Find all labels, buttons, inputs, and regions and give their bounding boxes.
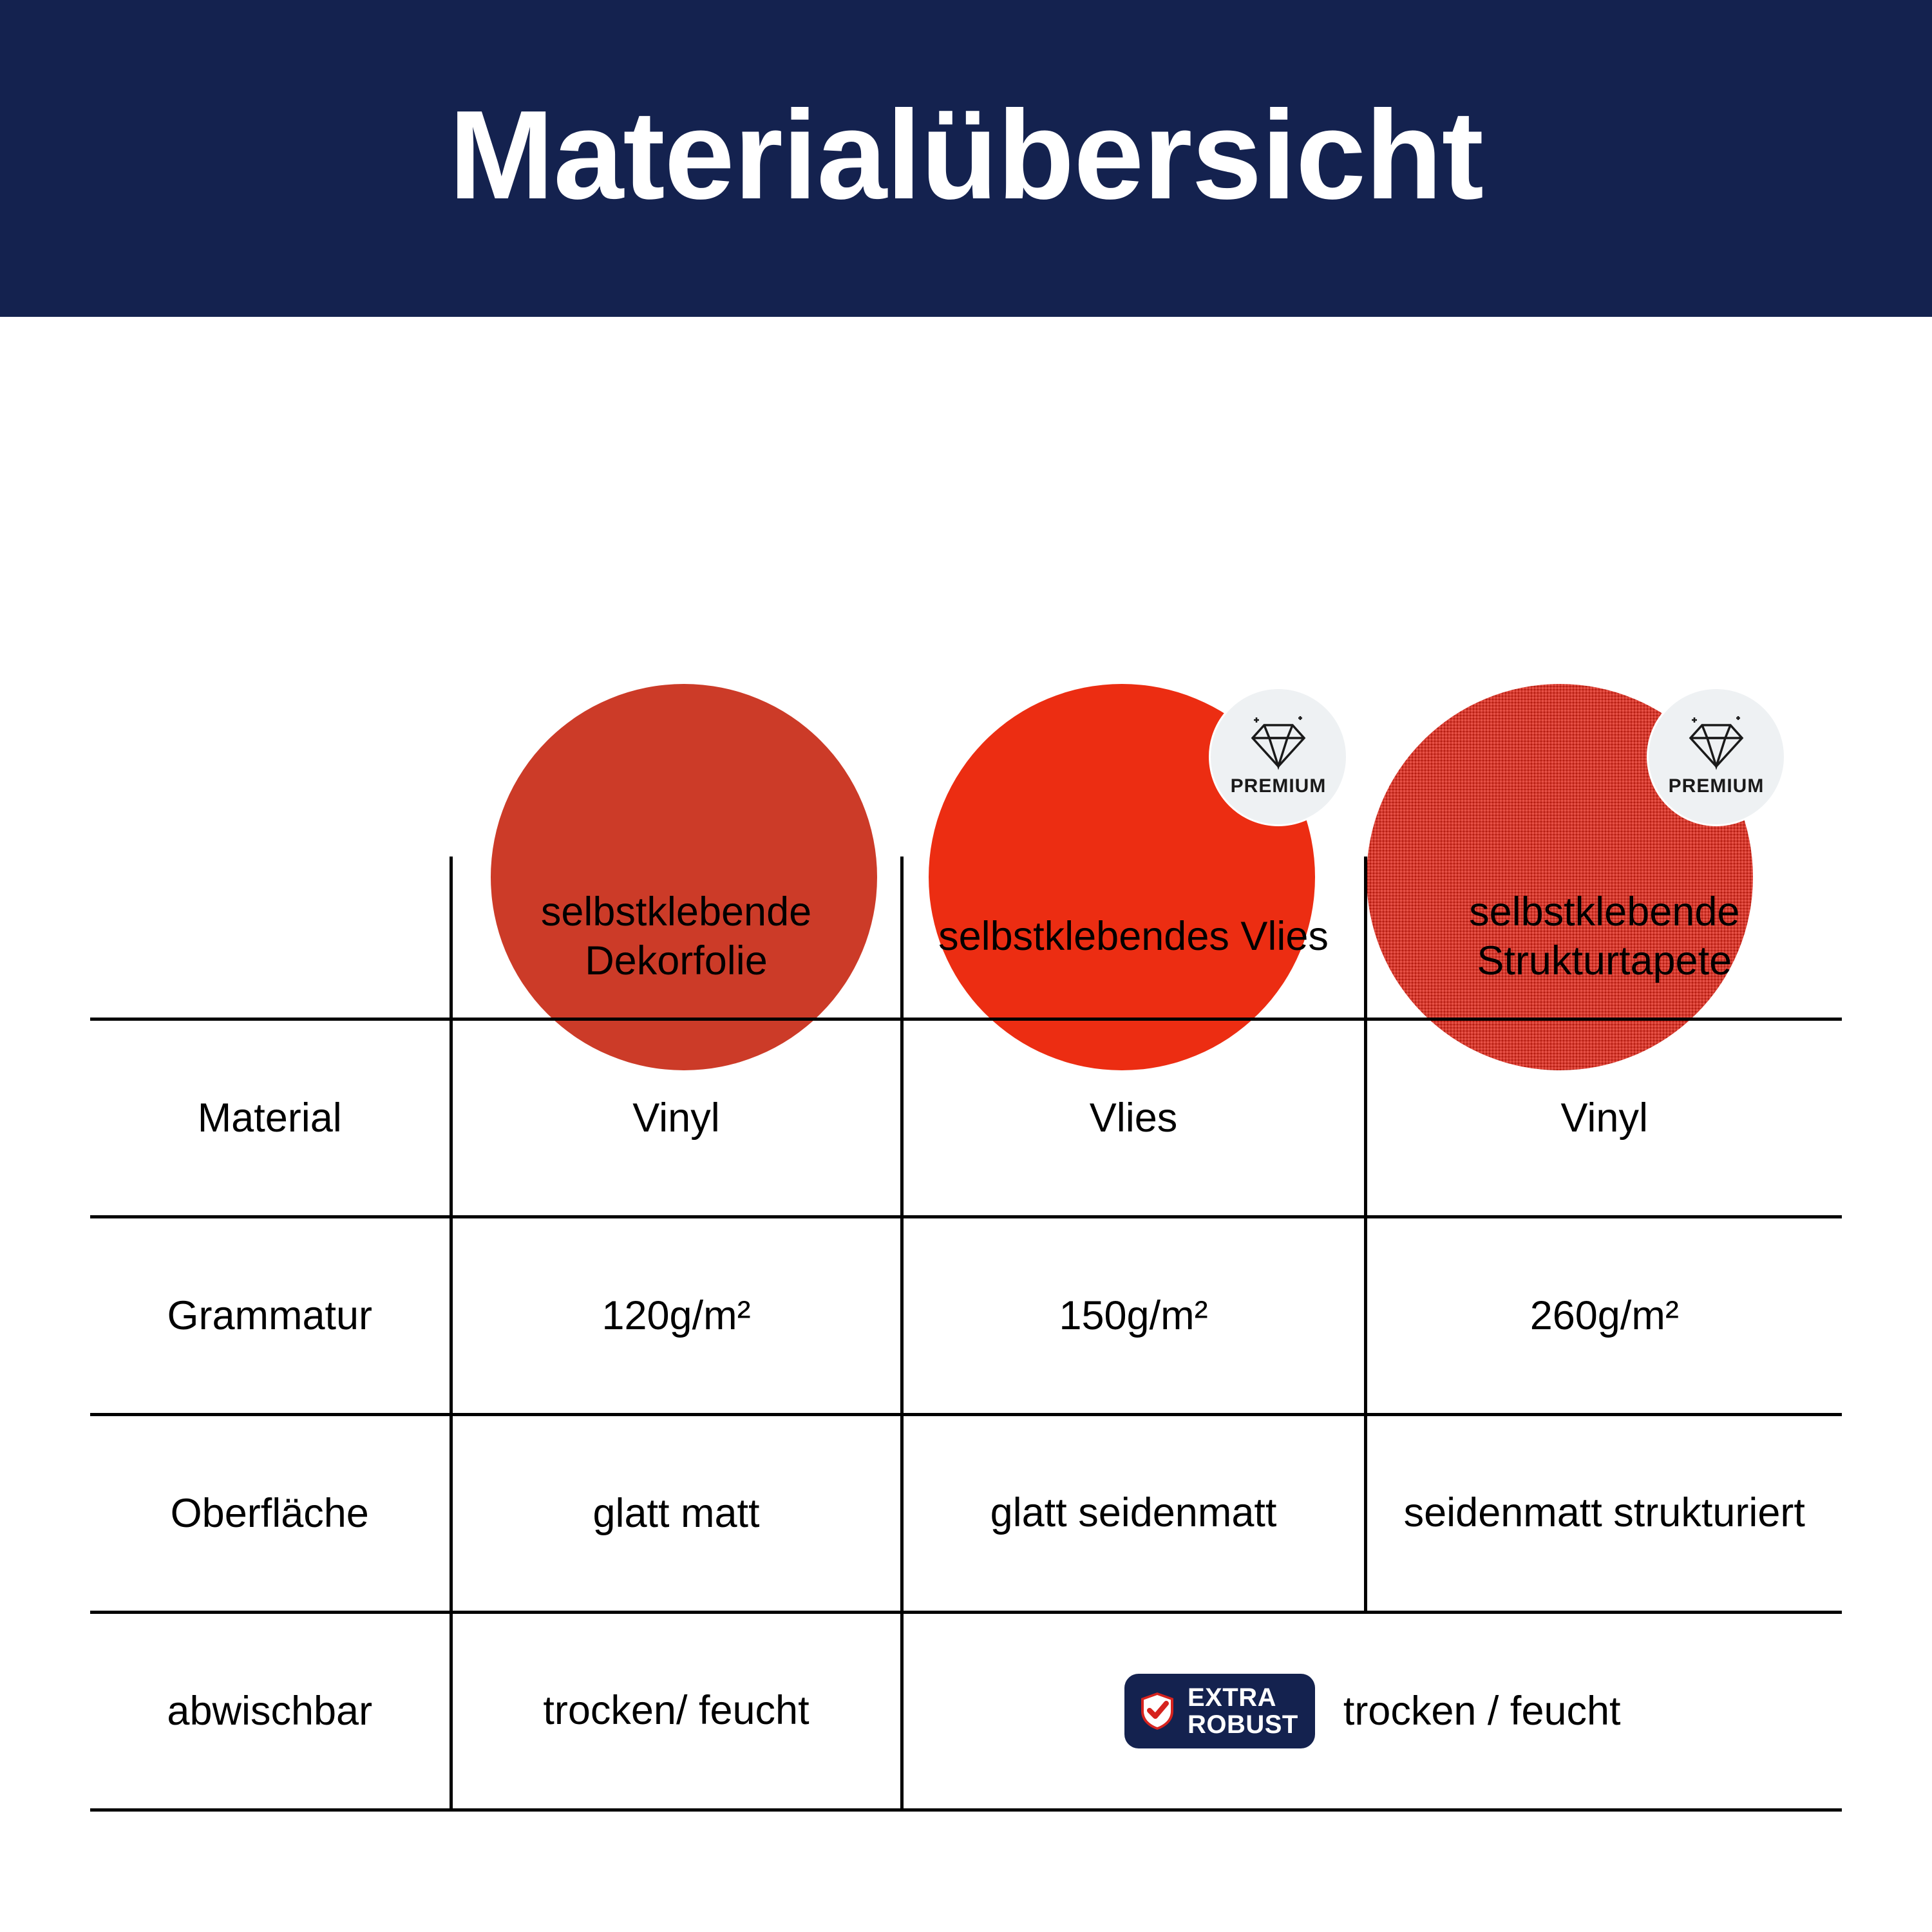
table-row: Oberfläche glatt matt glatt seidenmatt s…	[90, 1415, 1842, 1613]
extra-robust-line2: ROBUST	[1188, 1711, 1298, 1738]
cell-material-dekorfolie: Vinyl	[451, 1019, 902, 1217]
premium-badge-label: PREMIUM	[1669, 775, 1765, 797]
row-label-abwischbar: abwischbar	[90, 1613, 451, 1810]
table-row: abwischbar trocken/ feucht	[90, 1613, 1842, 1810]
table-row: Material Vinyl Vlies Vinyl	[90, 1019, 1842, 1217]
table-row: Grammatur 120g/m² 150g/m² 260g/m²	[90, 1217, 1842, 1415]
extra-robust-line1: EXTRA	[1188, 1684, 1276, 1711]
cell-grammatur-vlies: 150g/m²	[902, 1217, 1365, 1415]
column-header-strukturtapete: selbstklebende Strukturtapete	[1365, 857, 1842, 1019]
cell-grammatur-strukturtapete: 260g/m²	[1365, 1217, 1842, 1415]
extra-robust-badge: EXTRA ROBUST	[1124, 1674, 1315, 1748]
cell-material-vlies: Vlies	[902, 1019, 1365, 1217]
column-header-dekorfolie: selbstklebende Dekorfolie	[451, 857, 902, 1019]
row-label-grammatur: Grammatur	[90, 1217, 451, 1415]
page-title: Materialübersicht	[449, 92, 1483, 218]
cell-abwischbar-dekorfolie: trocken/ feucht	[451, 1613, 902, 1810]
swatch-row: PREMIUM PREMIUM	[0, 317, 1932, 832]
diamond-icon	[1245, 716, 1312, 772]
row-label-material: Material	[90, 1019, 451, 1217]
shield-check-icon	[1139, 1690, 1176, 1732]
cell-oberflaeche-vlies: glatt seidenmatt	[902, 1415, 1365, 1613]
material-table: selbstklebende Dekorfolie selbstklebende…	[90, 857, 1842, 1812]
material-overview-page: Materialübersicht PREMIUM	[0, 0, 1932, 1932]
table-corner-cell	[90, 857, 451, 1019]
cell-grammatur-dekorfolie: 120g/m²	[451, 1217, 902, 1415]
row-label-oberflaeche: Oberfläche	[90, 1415, 451, 1613]
cell-abwischbar-vlies-strukturtapete: EXTRA ROBUST trocken / feucht	[902, 1613, 1842, 1810]
column-header-vlies: selbstklebendes Vlies	[902, 857, 1365, 1019]
premium-badge-vlies: PREMIUM	[1209, 687, 1348, 826]
diamond-icon	[1683, 716, 1750, 772]
cell-oberflaeche-strukturtapete: seidenmatt strukturiert	[1365, 1415, 1842, 1613]
cell-abwischbar-text: trocken / feucht	[1343, 1687, 1621, 1736]
premium-badge-label: PREMIUM	[1231, 775, 1327, 797]
table-header-row: selbstklebende Dekorfolie selbstklebende…	[90, 857, 1842, 1019]
page-header: Materialübersicht	[0, 0, 1932, 317]
cell-oberflaeche-dekorfolie: glatt matt	[451, 1415, 902, 1613]
premium-badge-strukturtapete: PREMIUM	[1647, 687, 1786, 826]
cell-material-strukturtapete: Vinyl	[1365, 1019, 1842, 1217]
